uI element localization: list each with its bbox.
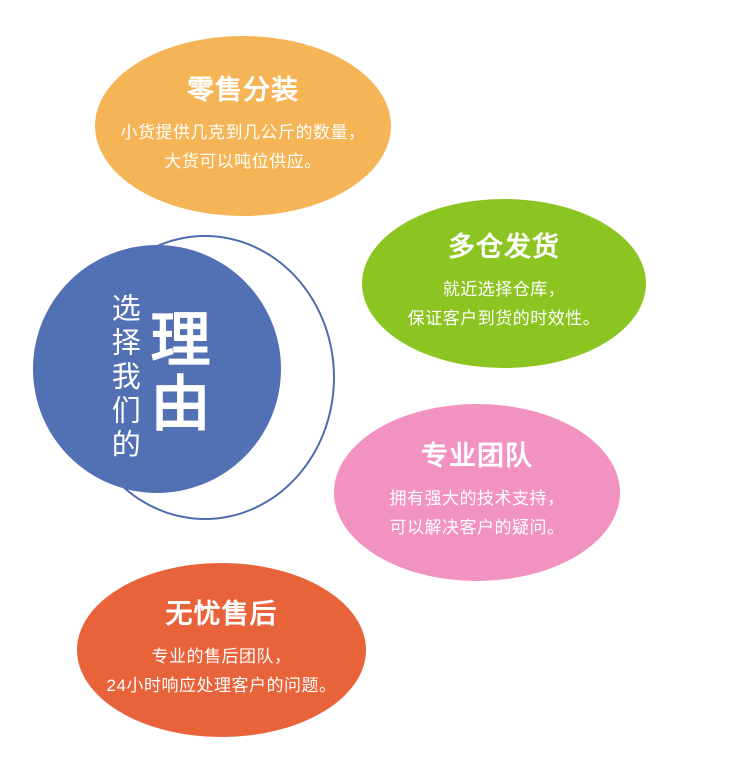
feature-bubble-service[interactable]: 无忧售后 专业的售后团队， 24小时响应处理客户的问题。 <box>77 563 366 737</box>
emblem-subtitle: 选择我们的 <box>107 293 138 463</box>
bubble-line-team-2: 可以解决客户的疑问。 <box>390 513 565 542</box>
emblem-title: 理由 <box>142 308 207 436</box>
bubble-line-service-1: 专业的售后团队， <box>152 642 292 671</box>
emblem-text-group: 选择我们的 理由 <box>33 245 281 493</box>
bubble-title-retail: 零售分装 <box>187 76 299 106</box>
bubble-line-retail-1: 小货提供几克到几公斤的数量， <box>121 118 366 147</box>
center-emblem[interactable]: 选择我们的 理由 <box>20 225 340 535</box>
feature-bubble-retail[interactable]: 零售分装 小货提供几克到几公斤的数量， 大货可以吨位供应。 <box>95 36 391 216</box>
bubble-line-shipping-2: 保证客户到货的时效性。 <box>408 304 601 333</box>
bubble-line-service-2: 24小时响应处理客户的问题。 <box>107 671 337 700</box>
bubble-line-retail-2: 大货可以吨位供应。 <box>164 147 322 176</box>
bubble-title-team: 专业团队 <box>421 442 533 472</box>
bubble-line-team-1: 拥有强大的技术支持， <box>390 484 565 513</box>
feature-bubble-team[interactable]: 专业团队 拥有强大的技术支持， 可以解决客户的疑问。 <box>334 404 620 581</box>
bubble-title-shipping: 多仓发货 <box>448 233 560 263</box>
infographic-canvas: 零售分装 小货提供几克到几公斤的数量， 大货可以吨位供应。 多仓发货 就近选择仓… <box>0 0 750 773</box>
bubble-title-service: 无忧售后 <box>166 600 278 630</box>
bubble-line-shipping-1: 就近选择仓库， <box>443 275 566 304</box>
feature-bubble-shipping[interactable]: 多仓发货 就近选择仓库， 保证客户到货的时效性。 <box>362 199 646 368</box>
